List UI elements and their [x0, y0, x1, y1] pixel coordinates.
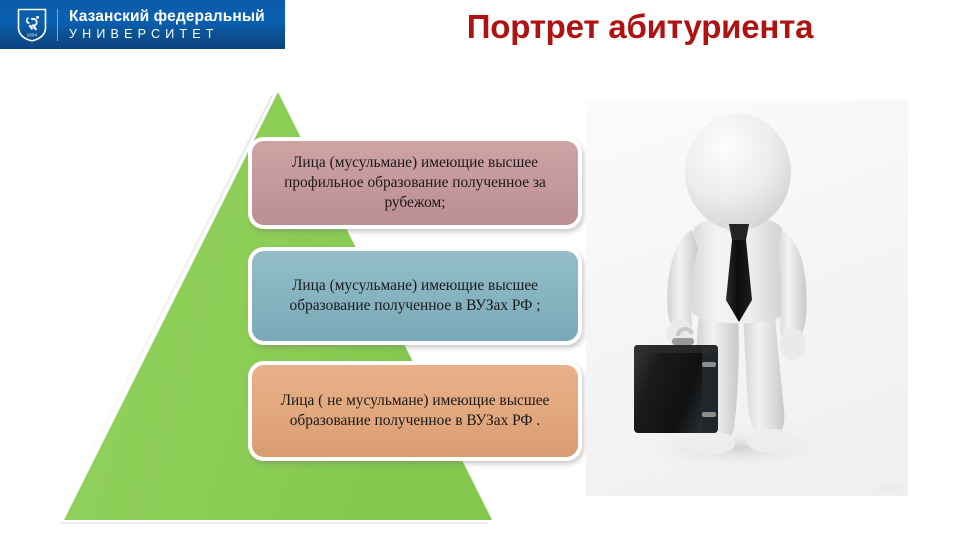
image-watermark: 123RF	[878, 485, 902, 492]
university-crest-icon: 1804	[17, 8, 47, 42]
tier-box-bottom[interactable]: Лица ( не мусульмане) имеющие высшее обр…	[248, 361, 582, 461]
tier-label-middle: Лица (мусульмане) имеющие высшее образов…	[266, 276, 564, 315]
logo-text-block: Казанский федеральный УНИВЕРСИТЕТ	[69, 9, 265, 41]
logo-line-1: Казанский федеральный	[69, 9, 265, 25]
logo-divider	[57, 9, 58, 41]
slide-title: Портрет абитуриента	[420, 8, 860, 46]
crest-year-label: 1804	[27, 32, 38, 37]
businessman-3d-figure-icon	[586, 100, 908, 496]
presentation-slide: 1804 Казанский федеральный УНИВЕРСИТЕТ П…	[0, 0, 960, 540]
tier-label-top: Лица (мусульмане) имеющие высшее профиль…	[266, 153, 564, 212]
logo-line-2: УНИВЕРСИТЕТ	[69, 28, 265, 41]
tier-box-middle[interactable]: Лица (мусульмане) имеющие высшее образов…	[248, 247, 582, 345]
university-logo-banner: 1804 Казанский федеральный УНИВЕРСИТЕТ	[0, 0, 285, 49]
businessman-image-panel: 123RF	[586, 100, 908, 496]
tier-label-bottom: Лица ( не мусульмане) имеющие высшее обр…	[266, 391, 564, 430]
tier-box-top[interactable]: Лица (мусульмане) имеющие высшее профиль…	[248, 137, 582, 229]
